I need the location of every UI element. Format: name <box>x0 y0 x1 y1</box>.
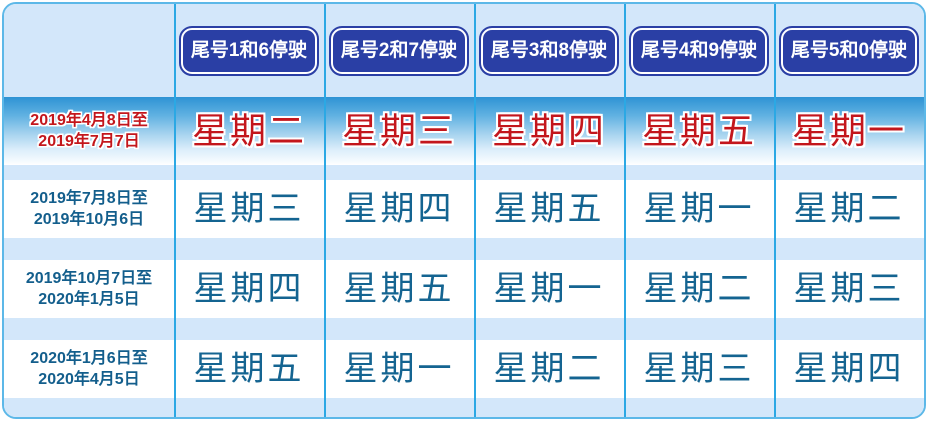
row-period-line2: 2020年4月5日 <box>30 369 147 390</box>
row-period-text: 2019年7月8日至 2019年10月6日 <box>30 188 147 231</box>
row-separator-band <box>4 318 924 340</box>
row-period-cell: 2019年7月8日至 2019年10月6日 <box>4 180 174 238</box>
row-period-cell: 2019年4月8日至 2019年7月7日 <box>4 97 174 165</box>
row-day-cell: 星期三 <box>774 260 924 318</box>
row-day-cell: 星期四 <box>324 180 474 238</box>
row-day-cell: 星期三 <box>174 180 324 238</box>
row-day-cell: 星期三 <box>624 340 774 398</box>
row-day-text: 星期二 <box>794 192 905 226</box>
row-day-cell: 星期四 <box>174 260 324 318</box>
row-day-cell: 星期五 <box>174 340 324 398</box>
row-day-text: 星期一 <box>644 192 755 226</box>
header-chip-label-1: 尾号1和6停驶 <box>181 28 317 74</box>
row-day-text: 星期二 <box>192 113 306 149</box>
row-day-cell: 星期一 <box>474 260 624 318</box>
row-day-cell: 星期五 <box>624 97 774 165</box>
row-day-text: 星期四 <box>194 272 305 306</box>
row-separator-band <box>4 165 924 180</box>
table-row[interactable]: 2019年10月7日至 2020年1月5日 星期四 星期五 星期一 星期二 <box>4 260 924 318</box>
header-corner-cell <box>4 4 174 97</box>
row-day-cell: 星期二 <box>474 340 624 398</box>
header-column-3[interactable]: 尾号3和8停驶 <box>474 4 624 97</box>
row-period-line1: 2019年10月7日至 <box>26 268 152 289</box>
row-day-text: 星期五 <box>494 192 605 226</box>
header-column-4[interactable]: 尾号4和9停驶 <box>624 4 774 97</box>
row-day-text: 星期二 <box>494 352 605 386</box>
row-day-text: 星期五 <box>642 113 756 149</box>
row-day-cell: 星期四 <box>774 340 924 398</box>
header-chip-label-2: 尾号2和7停驶 <box>331 28 467 74</box>
row-day-text: 星期五 <box>344 272 455 306</box>
row-period-line1: 2020年1月6日至 <box>30 348 147 369</box>
license-plate-restriction-table: 尾号1和6停驶 尾号2和7停驶 尾号3和8停驶 尾号4和9停驶 尾号5和0停驶 … <box>0 0 928 421</box>
row-day-cell: 星期一 <box>624 180 774 238</box>
row-day-text: 星期五 <box>194 352 305 386</box>
row-day-text: 星期三 <box>644 352 755 386</box>
row-period-line1: 2019年7月8日至 <box>30 188 147 209</box>
row-day-text: 星期三 <box>342 113 456 149</box>
table-header-row: 尾号1和6停驶 尾号2和7停驶 尾号3和8停驶 尾号4和9停驶 尾号5和0停驶 <box>4 4 924 97</box>
row-day-text: 星期四 <box>344 192 455 226</box>
row-period-line2: 2019年7月7日 <box>30 131 147 152</box>
table-row[interactable]: 2019年4月8日至 2019年7月7日 星期二 星期三 星期四 星期五 <box>4 97 924 165</box>
row-day-cell: 星期五 <box>474 180 624 238</box>
header-chip-label-3: 尾号3和8停驶 <box>481 28 617 74</box>
header-column-1[interactable]: 尾号1和6停驶 <box>174 4 324 97</box>
row-period-line2: 2020年1月5日 <box>26 289 152 310</box>
row-period-line2: 2019年10月6日 <box>30 209 147 230</box>
header-chip-label-4: 尾号4和9停驶 <box>631 28 767 74</box>
row-day-cell: 星期二 <box>174 97 324 165</box>
row-day-text: 星期二 <box>644 272 755 306</box>
row-period-text: 2019年10月7日至 2020年1月5日 <box>26 268 152 311</box>
row-day-text: 星期一 <box>344 352 455 386</box>
row-period-cell: 2020年1月6日至 2020年4月5日 <box>4 340 174 398</box>
row-period-line1: 2019年4月8日至 <box>30 110 147 131</box>
row-day-cell: 星期三 <box>324 97 474 165</box>
row-day-cell: 星期一 <box>324 340 474 398</box>
table-row[interactable]: 2020年1月6日至 2020年4月5日 星期五 星期一 星期二 星期三 <box>4 340 924 398</box>
row-day-text: 星期一 <box>792 113 906 149</box>
row-day-text: 星期四 <box>794 352 905 386</box>
row-day-cell: 星期四 <box>474 97 624 165</box>
row-period-cell: 2019年10月7日至 2020年1月5日 <box>4 260 174 318</box>
row-day-cell: 星期二 <box>624 260 774 318</box>
row-period-text: 2020年1月6日至 2020年4月5日 <box>30 348 147 391</box>
row-separator-band <box>4 238 924 260</box>
row-day-text: 星期一 <box>494 272 605 306</box>
row-period-text: 2019年4月8日至 2019年7月7日 <box>30 110 147 152</box>
row-separator-band <box>4 398 924 419</box>
header-column-5[interactable]: 尾号5和0停驶 <box>774 4 924 97</box>
row-day-text: 星期三 <box>194 192 305 226</box>
row-day-cell: 星期一 <box>774 97 924 165</box>
table-row[interactable]: 2019年7月8日至 2019年10月6日 星期三 星期四 星期五 星期一 <box>4 180 924 238</box>
table-frame: 尾号1和6停驶 尾号2和7停驶 尾号3和8停驶 尾号4和9停驶 尾号5和0停驶 … <box>2 2 926 419</box>
table-body: 2019年4月8日至 2019年7月7日 星期二 星期三 星期四 星期五 <box>4 97 924 417</box>
header-chip-label-5: 尾号5和0停驶 <box>781 28 917 74</box>
header-column-2[interactable]: 尾号2和7停驶 <box>324 4 474 97</box>
row-day-text: 星期四 <box>492 113 606 149</box>
row-day-cell: 星期二 <box>774 180 924 238</box>
row-day-cell: 星期五 <box>324 260 474 318</box>
row-day-text: 星期三 <box>794 272 905 306</box>
